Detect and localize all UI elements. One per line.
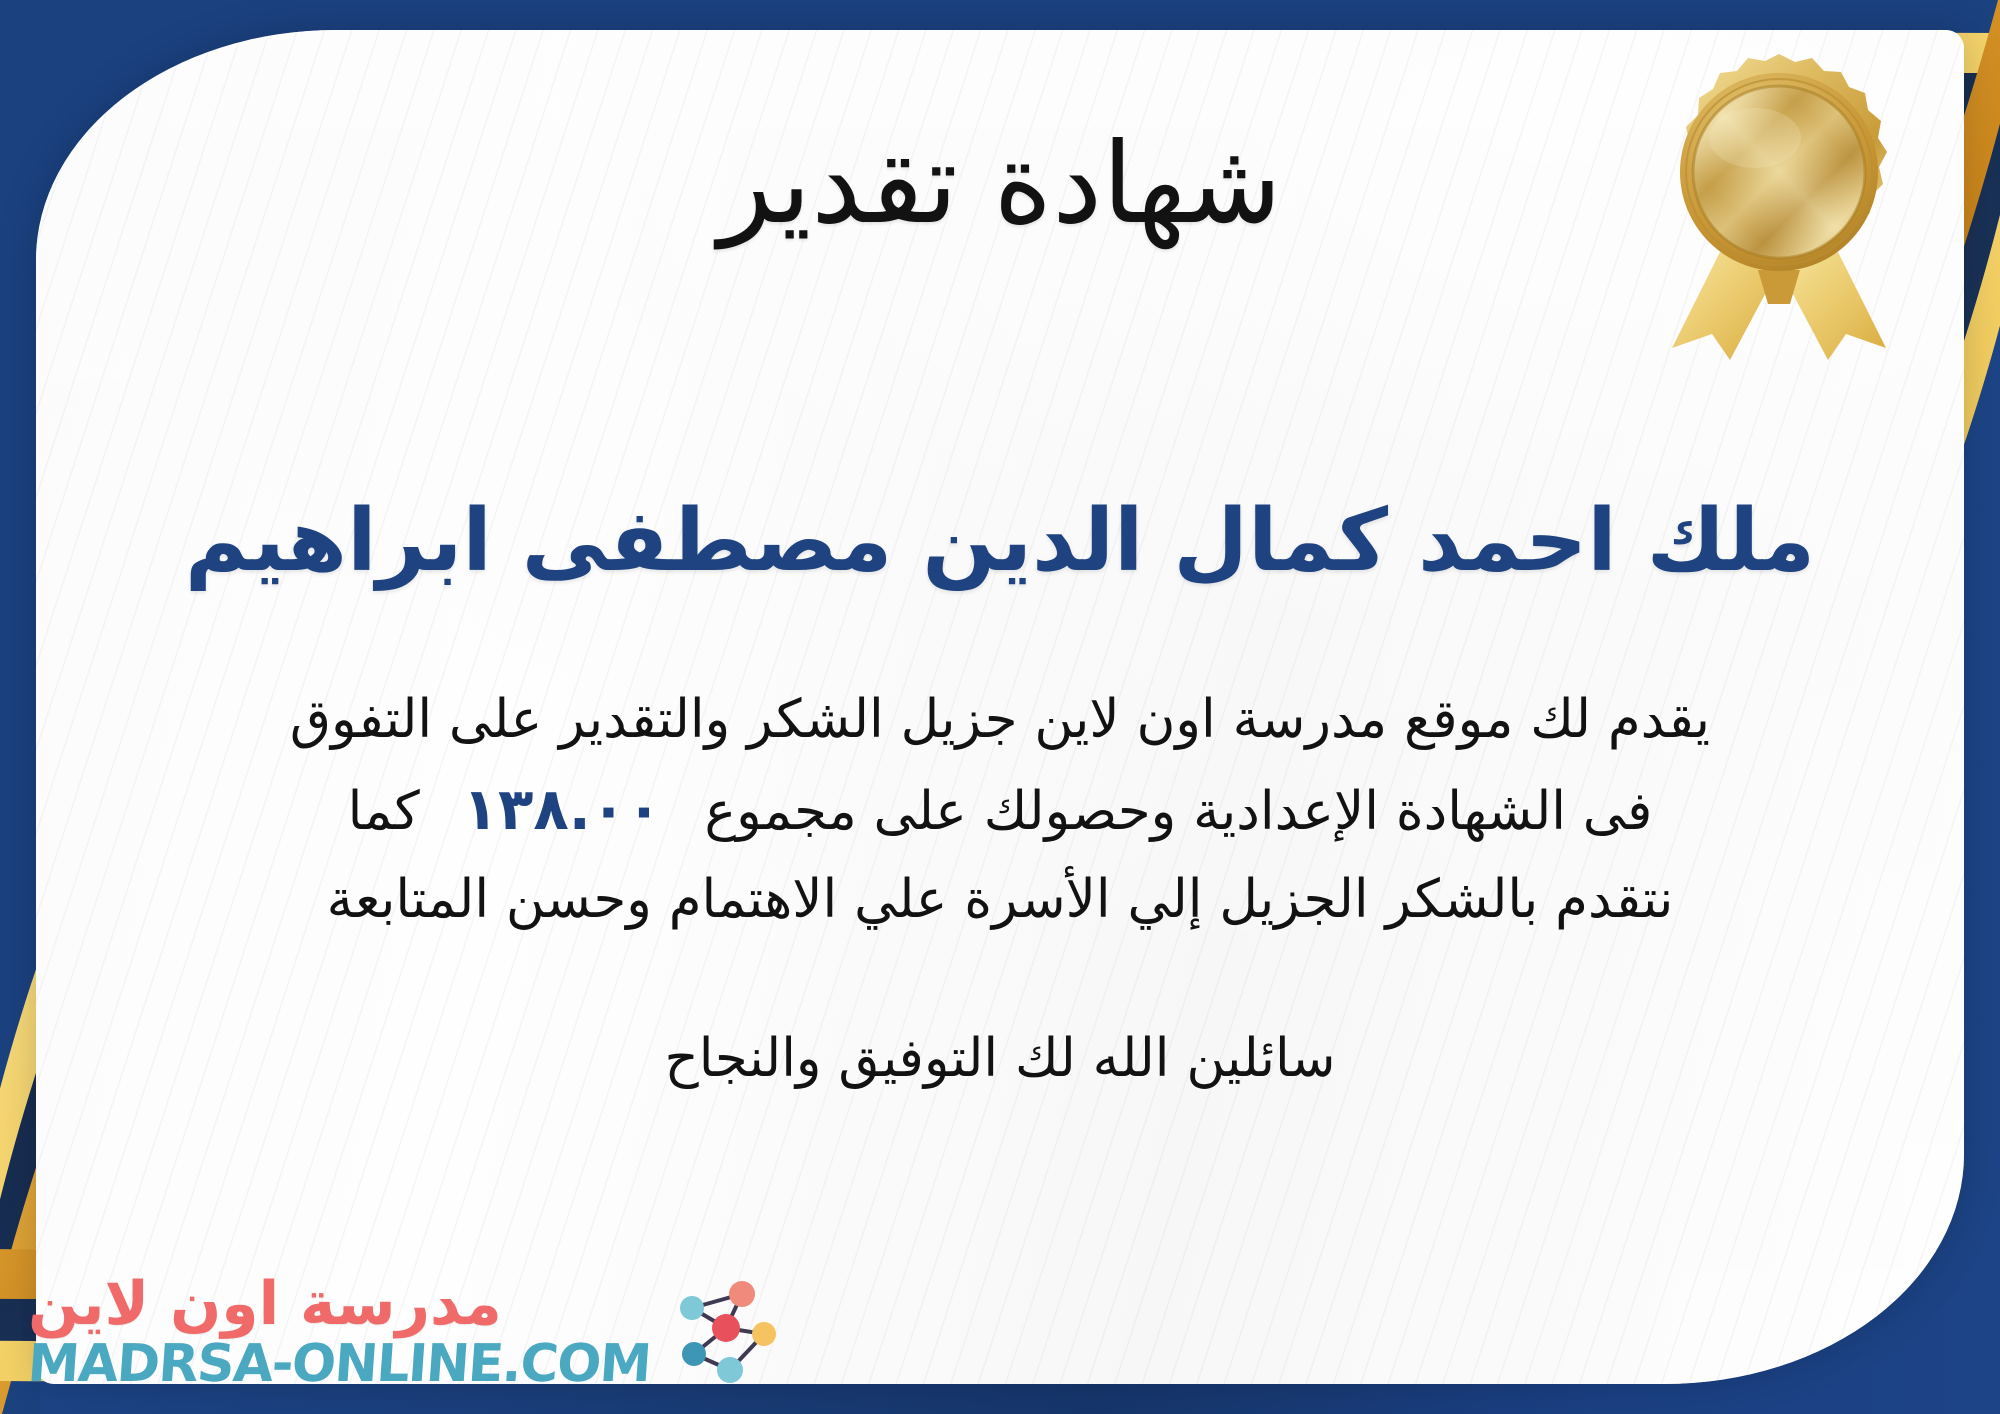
- network-nodes-icon: [664, 1272, 784, 1392]
- brand-logo-text: مدرسة اون لاين MADRSA-ONLINE.COM: [28, 1274, 650, 1390]
- closing-line: سائلين الله لك التوفيق والنجاح: [664, 1019, 1335, 1099]
- certificate-content: شهادة تقدير ملك احمد كمال الدين مصطفى اب…: [0, 0, 2000, 1414]
- brand-domain: MADRSA-ONLINE.COM: [26, 1338, 652, 1390]
- body-line-3: نتقدم بالشكر الجزيل إلي الأسرة علي الاهت…: [90, 857, 1910, 943]
- certificate-title: شهادة تقدير: [718, 128, 1281, 240]
- body-line-1: يقدم لك موقع مدرسة اون لاين جزيل الشكر و…: [90, 677, 1910, 763]
- recipient-name: ملك احمد كمال الدين مصطفى ابراهيم: [185, 493, 1815, 589]
- certificate-canvas: شهادة تقدير ملك احمد كمال الدين مصطفى اب…: [0, 0, 2000, 1414]
- certificate-body: يقدم لك موقع مدرسة اون لاين جزيل الشكر و…: [90, 677, 1910, 943]
- body-line-2-prefix: فى الشهادة الإعدادية وحصولك على مجموع: [704, 781, 1652, 842]
- grade-total: ١٣٨.٠٠: [437, 763, 688, 857]
- body-line-2: فى الشهادة الإعدادية وحصولك على مجموع ١٣…: [90, 763, 1910, 857]
- body-line-2-suffix: كما: [348, 781, 420, 842]
- brand-name-arabic: مدرسة اون لاين: [28, 1274, 502, 1334]
- brand-logo[interactable]: مدرسة اون لاين MADRSA-ONLINE.COM: [28, 1272, 784, 1392]
